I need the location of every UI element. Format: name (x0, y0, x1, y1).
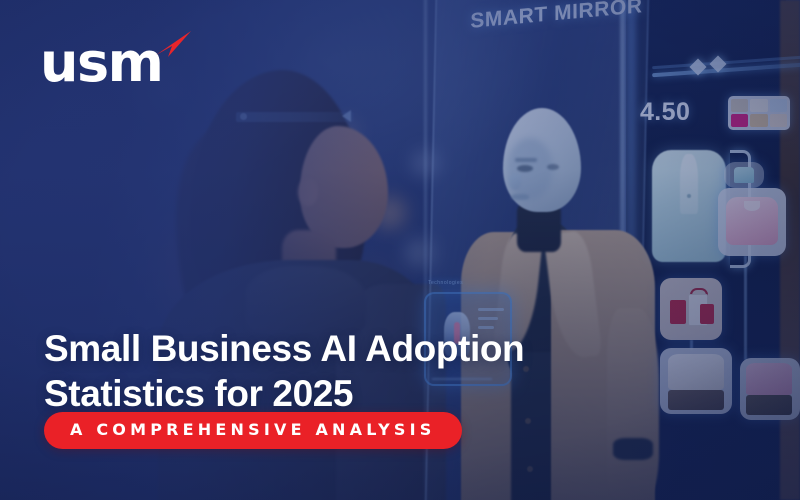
badge-label: A COMPREHENSIVE ANALYSIS (70, 420, 436, 439)
banner-content: usm Small Business AI Adoption Statistic… (0, 0, 800, 500)
headline-line-2: Statistics for 2025 (44, 371, 664, 416)
usm-logo[interactable]: usm (40, 36, 190, 94)
headline-line-1: Small Business AI Adoption (44, 328, 524, 369)
red-arrow-icon (148, 30, 192, 68)
status-badge: A COMPREHENSIVE ANALYSIS (44, 412, 462, 449)
hero-banner: Technologies 4.50 (0, 0, 800, 500)
page-title: Small Business AI Adoption Statistics fo… (44, 326, 664, 416)
